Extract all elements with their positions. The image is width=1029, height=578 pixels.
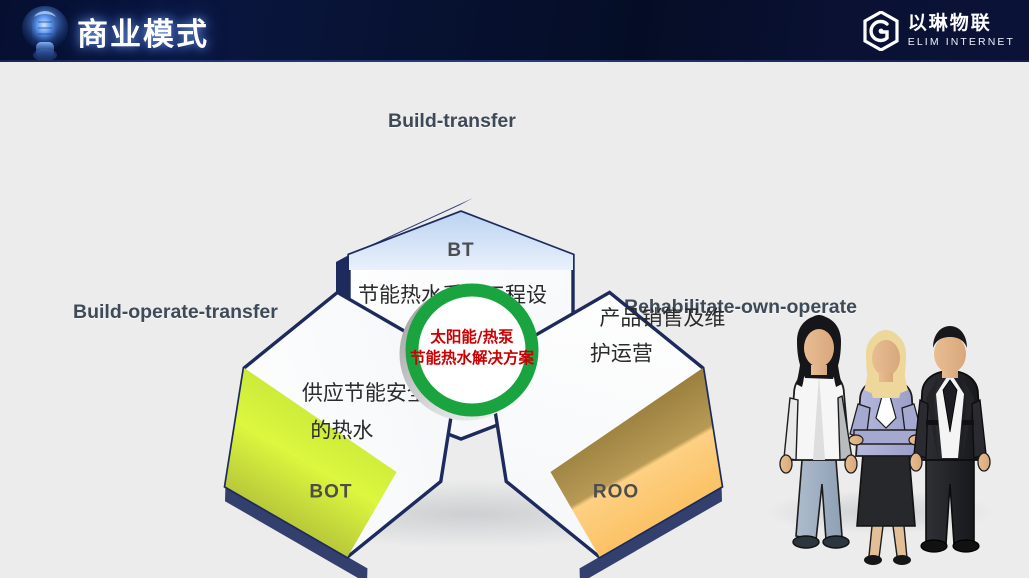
person-left: [780, 315, 857, 548]
hexagon-bt-code: BT: [447, 240, 474, 261]
raised-fist-icon: [14, 2, 76, 60]
brand-logo: 以琳物联 ELIM INTERNET: [862, 10, 1015, 52]
hexagon-roo-line1: 产品销售及维: [599, 306, 725, 330]
three-business-people-illustration: [766, 308, 1002, 570]
page-title: 商业模式: [77, 9, 209, 54]
logo-text-en: ELIM INTERNET: [908, 37, 1015, 48]
hex-g-logo-icon: [862, 11, 900, 51]
hexagon-roo-code: ROO: [593, 482, 639, 503]
center-badge[interactable]: 太阳能/热泵 节能热水解决方案: [406, 290, 534, 414]
hexagon-bot-code: BOT: [309, 482, 352, 503]
person-center: [849, 330, 923, 565]
logo-text-cn: 以琳物联: [908, 14, 1015, 33]
hexagon-bot-line2: 的热水: [310, 418, 373, 442]
center-line1: 太阳能/热泵: [430, 327, 514, 346]
center-line2: 节能热水解决方案: [410, 348, 535, 367]
person-right: [910, 326, 990, 552]
slide-body: Build-transfer Build-operate-transfer Re…: [0, 62, 1029, 578]
hexagon-roo-line2: 护运营: [590, 341, 653, 365]
page-header: 商业模式 以琳物联 ELIM INTERNET: [0, 0, 1029, 62]
